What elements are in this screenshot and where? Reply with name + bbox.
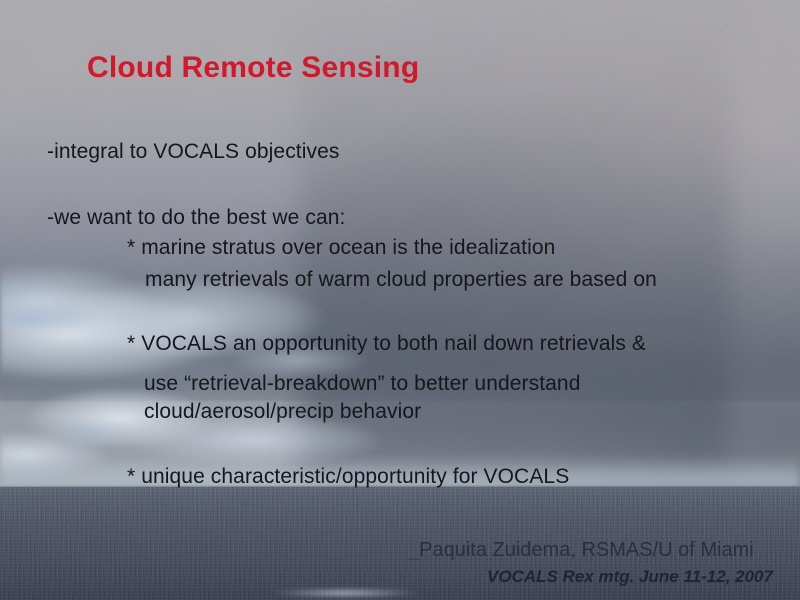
- subbullet-use-retrieval-breakdown: use “retrieval-breakdown” to better unde…: [144, 372, 581, 396]
- slide-content: Cloud Remote Sensing -integral to VOCALS…: [0, 0, 800, 600]
- credit-meeting: VOCALS Rex mtg. June 11-12, 2007: [487, 567, 773, 587]
- subbullet-marine-stratus-idealization: * marine stratus over ocean is the ideal…: [127, 236, 555, 260]
- bullet-integral-to-vocals-objectives: -integral to VOCALS objectives: [47, 140, 339, 164]
- subbullet-vocals-opportunity-nail-down-retrievals: * VOCALS an opportunity to both nail dow…: [127, 332, 646, 356]
- subbullet-many-retrievals-continuation: many retrievals of warm cloud properties…: [145, 268, 657, 292]
- credit-lead-mark: _: [408, 539, 419, 561]
- credit-author: _Paquita Zuidema, RSMAS/U of Miami: [408, 539, 754, 562]
- subbullet-unique-characteristic-opportunity: * unique characteristic/opportunity for …: [127, 465, 569, 489]
- slide-title: Cloud Remote Sensing: [87, 51, 419, 85]
- subbullet-cloud-aerosol-precip-behavior: cloud/aerosol/precip behavior: [144, 400, 421, 424]
- credit-author-text: Paquita Zuidema, RSMAS/U of Miami: [419, 539, 754, 561]
- bullet-we-want-to-do-the-best-we-can: -we want to do the best we can:: [47, 206, 345, 230]
- presentation-slide: Cloud Remote Sensing -integral to VOCALS…: [0, 0, 800, 600]
